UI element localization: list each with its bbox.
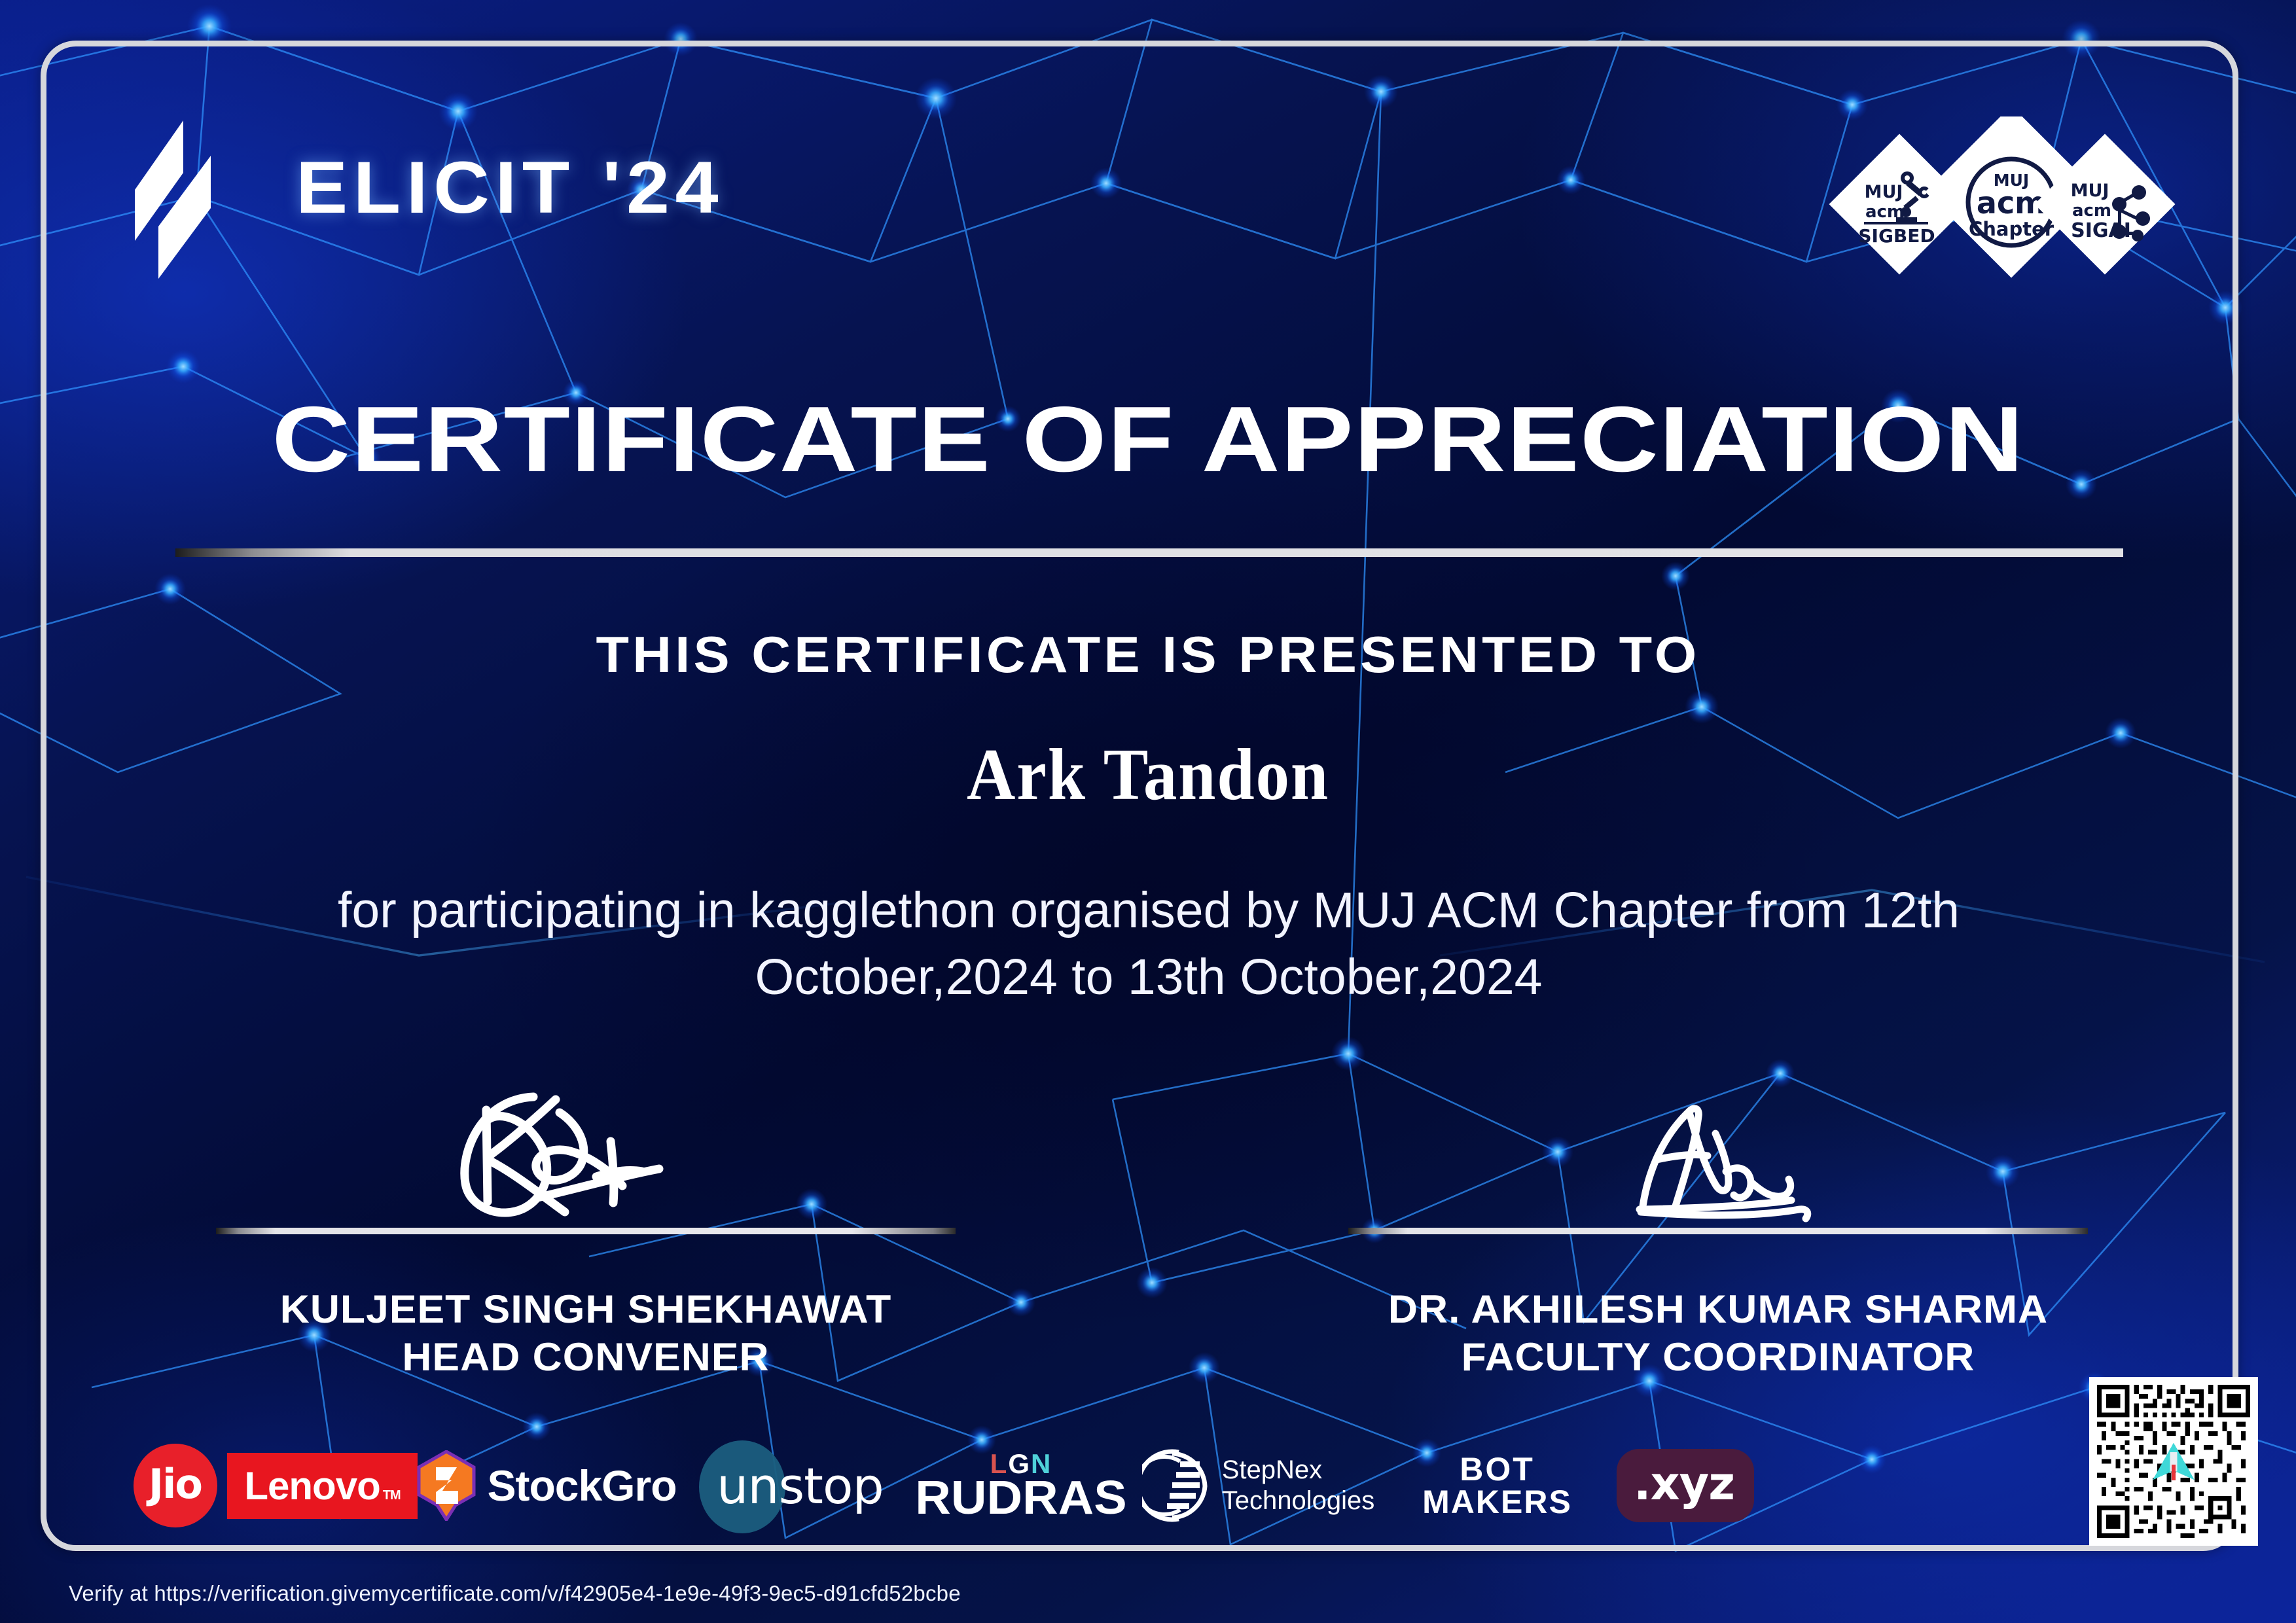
verification-url-text: Verify at https://verification.givemycer… [69,1581,961,1606]
certificate-body-text: for participating in kagglethon organise… [190,877,2108,1011]
signatory-name: KULJEET SINGH SHEKHAWAT [201,1285,970,1333]
signatory-role: HEAD CONVENER [201,1333,970,1381]
signature-line [216,1228,956,1234]
svg-text:SIGBED: SIGBED [1858,225,1935,247]
presented-to-label: THIS CERTIFICATE IS PRESENTED TO [0,625,2296,685]
stepnex-label2: Technologies [1222,1486,1375,1516]
sponsor-logo-stockgro: StockGro [406,1436,687,1535]
signature-block-head-convener: KULJEET SINGH SHEKHAWAT HEAD CONVENER [216,1073,956,1381]
signatory-name: DR. AKHILESH KUMAR SHARMA [1333,1285,2102,1333]
sponsor-logo-unstop: unstop [687,1436,913,1535]
lenovo-tm: TM [383,1488,401,1503]
sponsor-logo-stepnex: StepNex Technologies [1129,1436,1388,1535]
svg-text:acm: acm [1977,185,2046,221]
xyz-label: .xyz [1617,1449,1754,1522]
stockgro-pin-icon [416,1450,476,1521]
event-title: ELICIT '24 [296,145,724,230]
sponsor-logo-row: Jio Lenovo TM StockGro unstop LGN [111,1433,2042,1538]
botmakers-label-bottom: MAKERS [1422,1486,1572,1518]
signature-line [1348,1228,2088,1234]
sponsor-logo-botmakers: BOT MAKERS [1388,1436,1607,1535]
certificate-canvas: ELICIT '24 MUJ acm SIGBED MUJ acm Ch [0,0,2296,1623]
sponsor-logo-jio: Jio [111,1436,239,1535]
kuljeet-signature-icon [216,1073,956,1224]
stepnex-label: StepNex [1222,1455,1375,1486]
page-title: CERTIFICATE OF APPRECIATION [0,386,2296,493]
svg-text:acm: acm [2072,201,2111,221]
lenovo-label: Lenovo [244,1463,380,1508]
elicit-flame-logo [113,116,253,287]
sponsor-logo-lenovo: Lenovo TM [239,1436,406,1535]
svg-text:Chapter: Chapter [1969,218,2054,240]
akhilesh-signature-icon [1348,1073,2088,1224]
signatory-role: FACULTY COORDINATOR [1333,1333,2102,1381]
sponsor-logo-xyz: .xyz [1607,1436,1764,1535]
unstop-label: unstop [717,1457,883,1515]
rudras-label: RUDRAS [915,1476,1126,1520]
title-divider [175,548,2123,557]
verification-qr-code[interactable] [2089,1377,2258,1546]
botmakers-label-top: BOT [1422,1453,1572,1486]
jio-label: Jio [134,1444,217,1527]
recipient-name: Ark Tandon [92,733,2204,817]
qr-code-icon [2097,1385,2250,1538]
svg-text:MUJ: MUJ [1865,182,1903,202]
signature-block-faculty-coordinator: DR. AKHILESH KUMAR SHARMA FACULTY COORDI… [1348,1073,2088,1381]
svg-text:MUJ: MUJ [2071,181,2109,201]
acm-chapter-logos: MUJ acm SIGBED MUJ acm Chapter MUJ [1812,116,2191,293]
sponsor-logo-rudras: LGN RUDRAS [913,1436,1129,1535]
stockgro-label: StockGro [487,1461,676,1510]
stepnex-icon [1142,1447,1210,1524]
